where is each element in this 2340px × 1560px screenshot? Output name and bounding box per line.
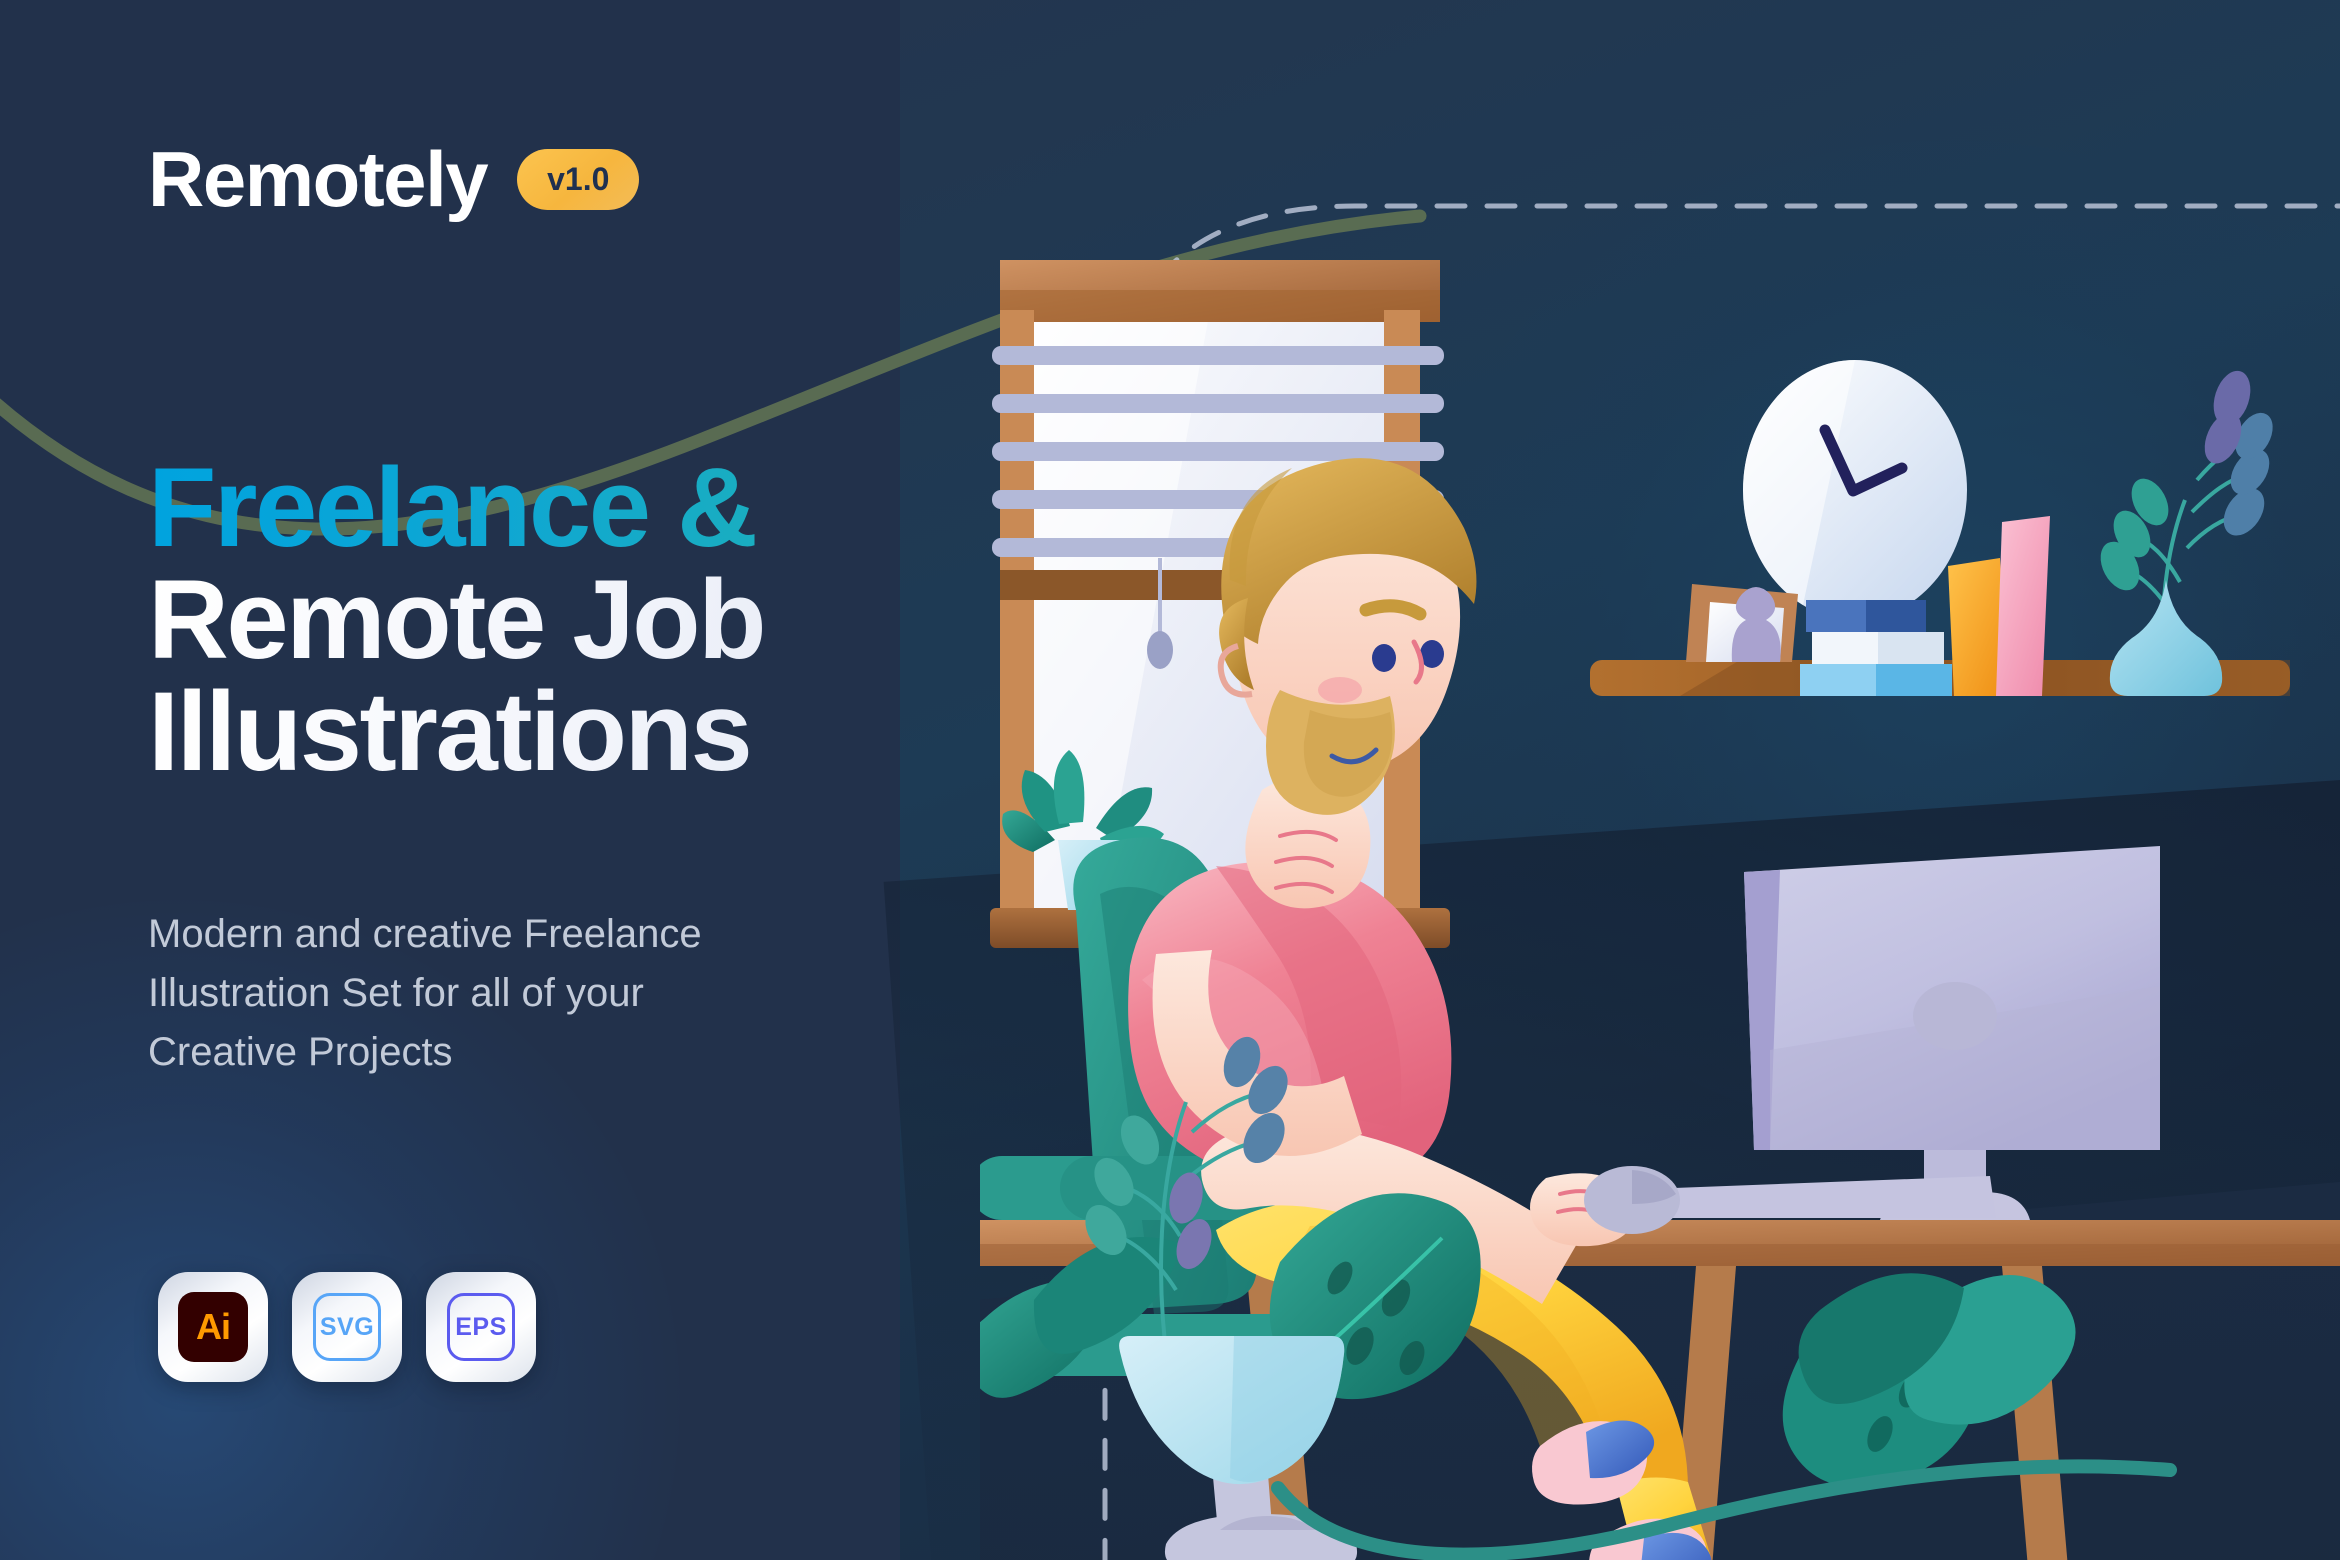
monitor <box>1744 846 2160 1220</box>
headline-line-3: Illustrations <box>148 676 928 788</box>
subtitle-line-1: Modern and creative Freelance <box>148 912 702 956</box>
left-content-column: Remotely v1.0 Freelance & Remote Job Ill… <box>148 0 928 1560</box>
eps-icon: EPS <box>447 1293 515 1361</box>
format-badge-svg[interactable]: SVG <box>292 1272 402 1382</box>
page-title: Freelance & Remote Job Illustrations <box>148 452 928 788</box>
subtitle-line-3: Creative Projects <box>148 1030 453 1074</box>
headline-line-2: Remote Job <box>148 564 928 676</box>
wall-clock <box>1743 360 1967 620</box>
freelancer-scene <box>980 150 2340 1560</box>
brand-logo: Remotely v1.0 <box>148 140 639 218</box>
eye-left <box>1372 644 1396 672</box>
poster-canvas: Remotely v1.0 Freelance & Remote Job Ill… <box>0 0 2340 1560</box>
version-badge: v1.0 <box>517 149 639 210</box>
headline-line-1: Freelance & <box>148 452 928 564</box>
upright-books <box>1948 516 2050 696</box>
blind-pull-cord <box>1147 631 1173 669</box>
hero-illustration <box>980 150 2340 1560</box>
format-badge-eps[interactable]: EPS <box>426 1272 536 1382</box>
vase-with-leaves <box>2093 366 2281 696</box>
format-badge-row: Ai SVG EPS <box>158 1272 536 1382</box>
format-badge-ai[interactable]: Ai <box>158 1272 268 1382</box>
adobe-illustrator-icon: Ai <box>178 1292 248 1362</box>
svg-icon: SVG <box>313 1293 381 1361</box>
cheek-blush <box>1318 677 1362 703</box>
brand-name: Remotely <box>148 140 487 218</box>
subtitle-line-2: Illustration Set for all of your <box>148 971 644 1015</box>
stacked-books <box>1800 600 1952 696</box>
subtitle-text: Modern and creative Freelance Illustrati… <box>148 905 908 1083</box>
picture-frame <box>1686 584 1798 662</box>
